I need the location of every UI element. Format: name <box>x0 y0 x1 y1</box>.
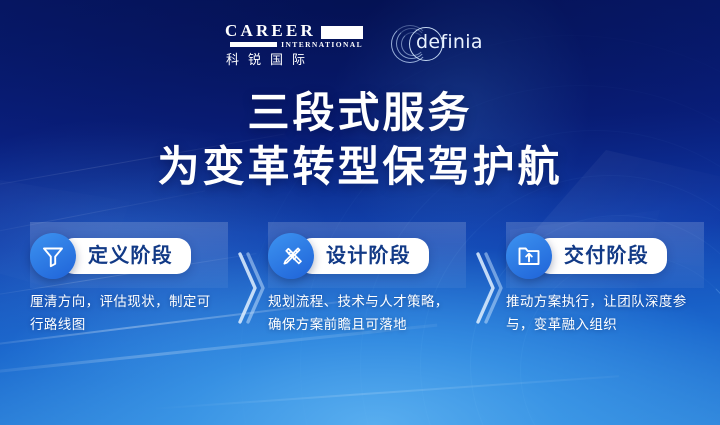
stage-card-design[interactable]: 设计阶段 规划流程、技术与人才策略，确保方案前瞻且可落地 <box>268 222 472 336</box>
definia-logo: definia <box>391 24 495 64</box>
chevron-right-divider <box>472 240 506 360</box>
logo-row: CAREER INTERNATIONAL 科锐国际 definia <box>0 22 720 66</box>
light-streak-6 <box>150 375 619 410</box>
career-logo-english: CAREER <box>225 22 316 39</box>
stage-description: 规划流程、技术与人才策略，确保方案前瞻且可落地 <box>268 290 460 336</box>
folder-upload-icon <box>506 233 552 279</box>
definia-wordmark: definia <box>416 33 483 52</box>
chevron-right-divider <box>234 240 268 360</box>
career-logo-bar <box>230 42 277 47</box>
headline-line-2: 为变革转型保驾护航 <box>0 142 720 192</box>
stage-description: 推动方案执行，让团队深度参与，变革融入组织 <box>506 290 698 336</box>
stage-description: 厘清方向，评估现状，制定可行路线图 <box>30 290 216 336</box>
stage-title-badge: 设计阶段 <box>298 238 429 274</box>
career-logo-subenglish: INTERNATIONAL <box>281 41 363 49</box>
headline-line-1: 三段式服务 <box>0 88 720 138</box>
career-logo-chinese: 科锐国际 <box>225 53 314 66</box>
promo-banner: CAREER INTERNATIONAL 科锐国际 definia 三段式服务 … <box>0 0 720 425</box>
headline: 三段式服务 为变革转型保驾护航 <box>0 88 720 191</box>
stage-card-deliver[interactable]: 交付阶段 推动方案执行，让团队深度参与，变革融入组织 <box>506 222 710 336</box>
stage-title-badge: 交付阶段 <box>536 238 667 274</box>
career-logo-block <box>321 26 363 39</box>
career-international-logo: CAREER INTERNATIONAL 科锐国际 <box>225 22 363 66</box>
funnel-icon <box>30 233 76 279</box>
stage-card-define[interactable]: 定义阶段 厘清方向，评估现状，制定可行路线图 <box>30 222 234 336</box>
stage-title-badge: 定义阶段 <box>60 238 191 274</box>
pencil-ruler-icon <box>268 233 314 279</box>
stage-card-row: 定义阶段 厘清方向，评估现状，制定可行路线图 <box>30 222 710 360</box>
